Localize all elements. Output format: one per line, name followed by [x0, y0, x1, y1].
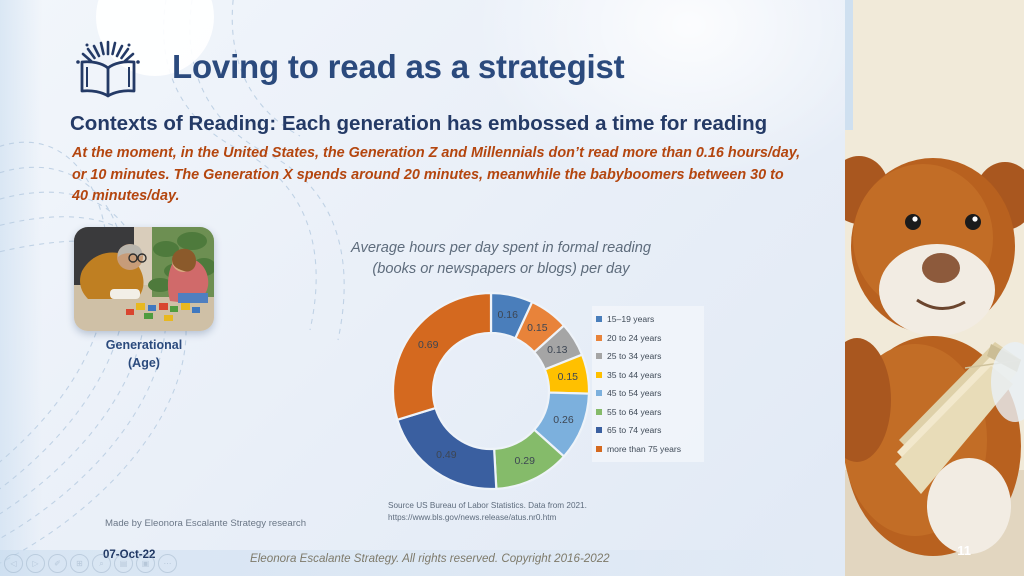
photo-caption: Generational (Age) [74, 336, 214, 372]
legend-label: 45 to 54 years [607, 388, 661, 398]
legend-swatch-icon [596, 372, 602, 378]
chart-title-line1: Average hours per day spent in formal re… [351, 240, 651, 256]
chart-legend: 15–19 years20 to 24 years25 to 34 years3… [592, 306, 704, 462]
chart-title-line2: (books or newspapers or blogs) per day [372, 261, 629, 277]
legend-item[interactable]: more than 75 years [596, 440, 700, 459]
slice-value-label: 0.15 [527, 322, 547, 334]
presentation-slide: Loving to read as a strategist Contexts … [0, 0, 1024, 576]
legend-label: 15–19 years [607, 314, 654, 324]
slice-value-label: 0.16 [498, 309, 518, 321]
presentation-toolbar[interactable]: ◁▷✐⊞⌕▤▣⋯ [4, 554, 177, 573]
slice-value-label: 0.15 [558, 371, 578, 383]
teddy-bear-photo [845, 0, 1024, 576]
legend-item[interactable]: 15–19 years [596, 310, 700, 329]
photo-caption-line2: (Age) [128, 356, 160, 370]
lede-paragraph: At the moment, in the United States, the… [72, 143, 802, 208]
open-book-sparkle-icon [68, 34, 148, 100]
slice-value-label: 0.49 [436, 449, 456, 461]
source-line2: https://www.bls.gov/news.release/atus.nr… [388, 513, 556, 522]
slice-value-label: 0.13 [547, 344, 567, 356]
legend-swatch-icon [596, 316, 602, 322]
legend-label: 55 to 64 years [607, 407, 661, 417]
black-screen-button[interactable]: ▣ [136, 554, 155, 573]
donut-slice[interactable] [393, 293, 491, 420]
pen-tool-button[interactable]: ✐ [48, 554, 67, 573]
slice-value-label: 0.69 [418, 339, 438, 351]
slice-value-label: 0.26 [553, 414, 573, 426]
page-subtitle: Contexts of Reading: Each generation has… [70, 112, 767, 136]
legend-item[interactable]: 45 to 54 years [596, 384, 700, 403]
legend-item[interactable]: 20 to 24 years [596, 329, 700, 348]
legend-item[interactable]: 25 to 34 years [596, 347, 700, 366]
source-line1: Source US Bureau of Labor Statistics. Da… [388, 501, 587, 510]
legend-swatch-icon [596, 390, 602, 396]
more-options-button[interactable]: ⋯ [158, 554, 177, 573]
all-slides-button[interactable]: ⊞ [70, 554, 89, 573]
donut-chart: 0.160.150.130.150.260.290.490.69 [388, 288, 594, 494]
next-slide-button[interactable]: ▷ [26, 554, 45, 573]
previous-slide-button[interactable]: ◁ [4, 554, 23, 573]
page-number: 11 [957, 543, 971, 558]
legend-swatch-icon [596, 427, 602, 433]
legend-item[interactable]: 55 to 64 years [596, 403, 700, 422]
legend-swatch-icon [596, 409, 602, 415]
legend-label: 20 to 24 years [607, 333, 661, 343]
chart-source: Source US Bureau of Labor Statistics. Da… [388, 500, 688, 524]
legend-item[interactable]: 35 to 44 years [596, 366, 700, 385]
legend-swatch-icon [596, 446, 602, 452]
copyright-label: Eleonora Escalante Strategy. All rights … [250, 552, 610, 565]
legend-label: 35 to 44 years [607, 370, 661, 380]
legend-swatch-icon [596, 335, 602, 341]
legend-label: more than 75 years [607, 444, 681, 454]
chart-title: Average hours per day spent in formal re… [316, 238, 686, 280]
generational-photo [74, 227, 214, 331]
zoom-button[interactable]: ⌕ [92, 554, 111, 573]
legend-label: 25 to 34 years [607, 351, 661, 361]
legend-swatch-icon [596, 353, 602, 359]
subtitles-button[interactable]: ▤ [114, 554, 133, 573]
made-by-label: Made by Eleonora Escalante Strategy rese… [105, 518, 306, 529]
photo-caption-line1: Generational [106, 338, 182, 352]
legend-item[interactable]: 65 to 74 years [596, 421, 700, 440]
page-title: Loving to read as a strategist [172, 48, 624, 86]
legend-label: 65 to 74 years [607, 425, 661, 435]
slice-value-label: 0.29 [514, 455, 534, 467]
